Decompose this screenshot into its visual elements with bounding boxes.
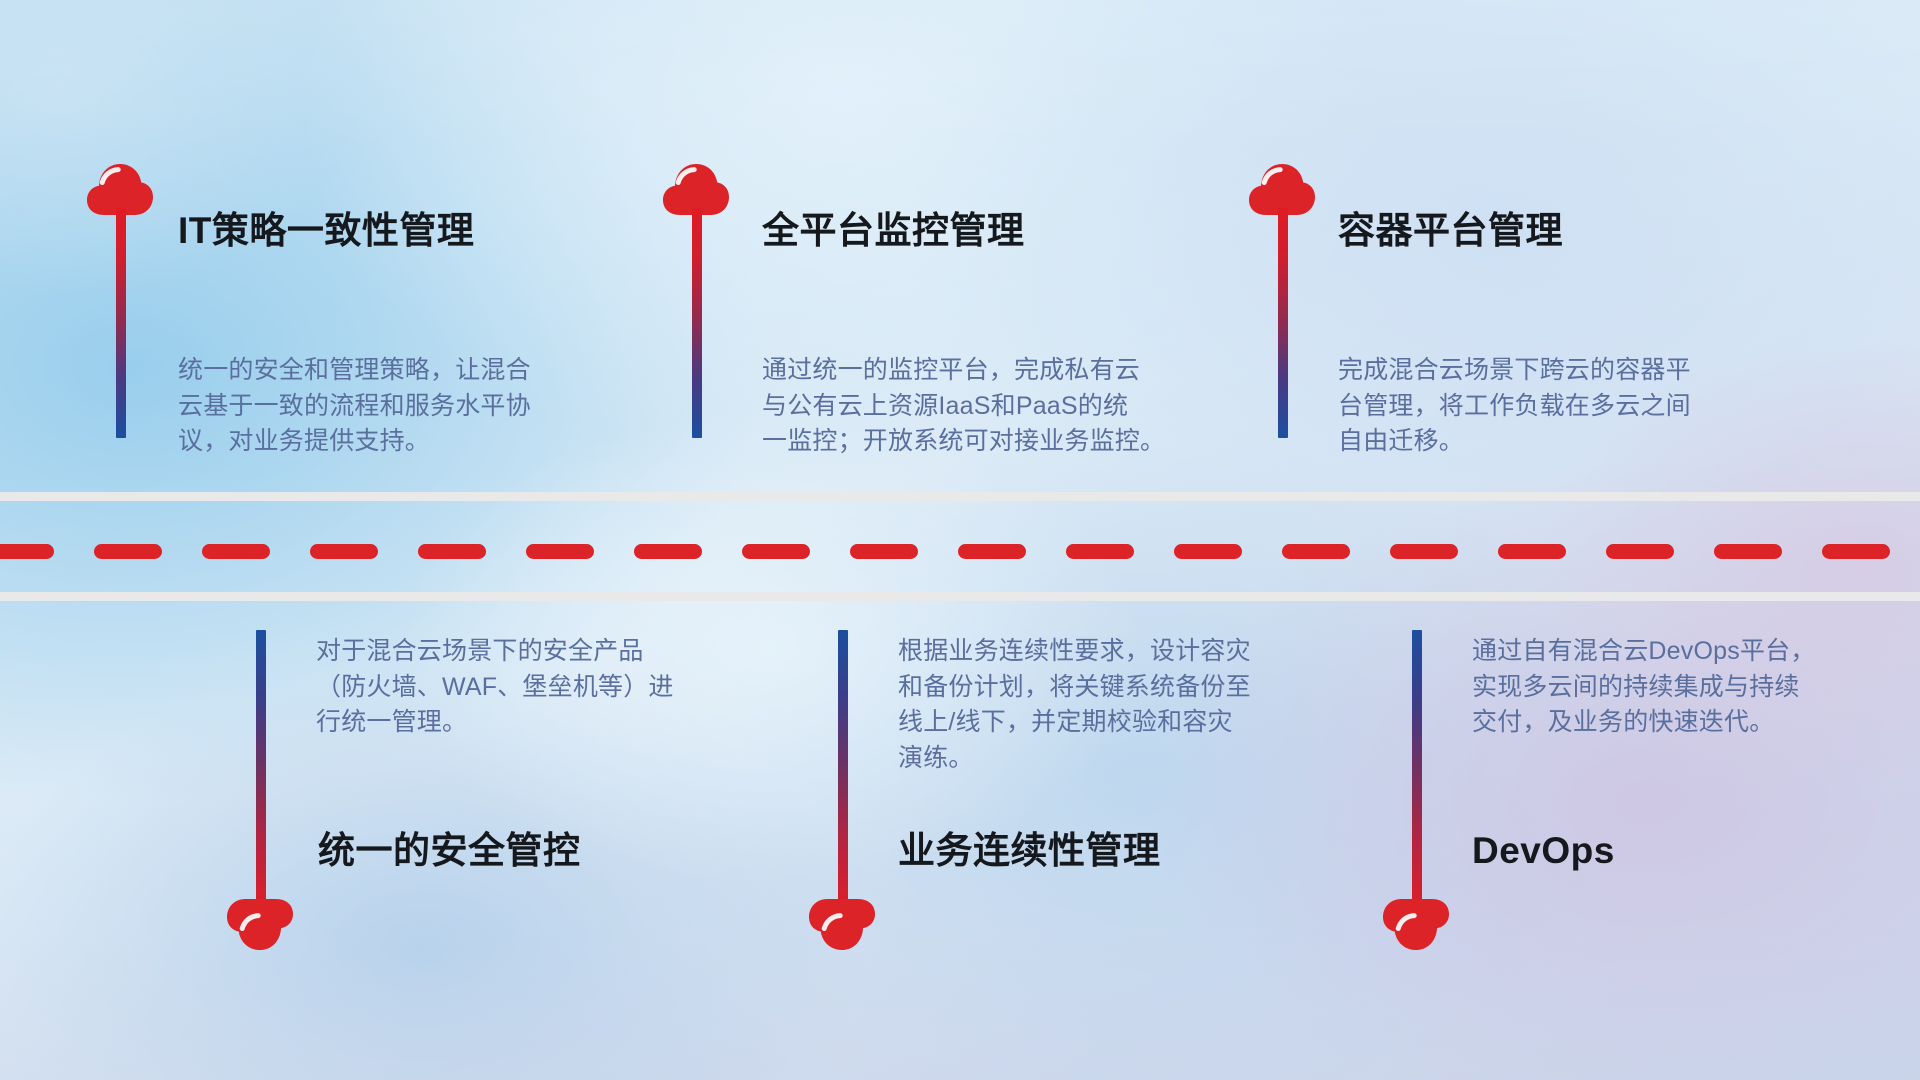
road-dash-segment: [0, 544, 54, 559]
road-dash-segment: [1498, 544, 1566, 559]
item-body: 通过统一的监控平台，完成私有云 与公有云上资源IaaS和PaaS的统 一监控；开…: [762, 353, 1202, 460]
item-heading: DevOps: [1472, 832, 1615, 869]
road-dash-segment: [1606, 544, 1674, 559]
road-dashed-centerline: [0, 544, 1920, 559]
road-dash-segment: [94, 544, 162, 559]
road-dash-segment: [526, 544, 594, 559]
item-body: 完成混合云场景下跨云的容器平 台管理，将工作负载在多云之间 自由迁移。: [1338, 353, 1768, 460]
infographic-canvas: IT策略一致性管理 统一的安全和管理策略，让混合 云基于一致的流程和服务水平协 …: [0, 0, 1920, 1080]
road-dash-segment: [418, 544, 486, 559]
road-dash-segment: [958, 544, 1026, 559]
item-body: 根据业务连续性要求，设计容灾 和备份计划，将关键系统备份至 线上/线下，并定期校…: [898, 634, 1318, 776]
timeline-stem: [838, 630, 848, 900]
item-body: 统一的安全和管理策略，让混合 云基于一致的流程和服务水平协 议，对业务提供支持。: [178, 353, 598, 460]
road-dash-segment: [1174, 544, 1242, 559]
cloud-icon: [1380, 898, 1452, 954]
road-dash-segment: [1282, 544, 1350, 559]
road-line-bottom: [0, 592, 1920, 601]
road-dash-segment: [310, 544, 378, 559]
road-dash-segment: [634, 544, 702, 559]
timeline-stem: [116, 208, 126, 438]
road-line-top: [0, 492, 1920, 501]
item-heading: 统一的安全管控: [318, 832, 581, 869]
cloud-icon: [806, 898, 878, 954]
timeline-stem: [256, 630, 266, 900]
item-body: 对于混合云场景下的安全产品 （防火墙、WAF、堡垒机等）进 行统一管理。: [316, 634, 746, 741]
road-dash-segment: [850, 544, 918, 559]
road-dash-segment: [1822, 544, 1890, 559]
cloud-icon: [224, 898, 296, 954]
road-dash-segment: [1714, 544, 1782, 559]
road-dash-segment: [202, 544, 270, 559]
timeline-stem: [1412, 630, 1422, 900]
timeline-stem: [692, 208, 702, 438]
item-heading: 业务连续性管理: [898, 832, 1161, 869]
road-dash-segment: [742, 544, 810, 559]
item-heading: IT策略一致性管理: [178, 212, 474, 249]
item-body: 通过自有混合云DevOps平台， 实现多云间的持续集成与持续 交付，及业务的快速…: [1472, 634, 1892, 741]
road-dash-segment: [1066, 544, 1134, 559]
timeline-stem: [1278, 208, 1288, 438]
road-dash-segment: [1390, 544, 1458, 559]
item-heading: 全平台监控管理: [762, 212, 1025, 249]
item-heading: 容器平台管理: [1338, 212, 1563, 249]
